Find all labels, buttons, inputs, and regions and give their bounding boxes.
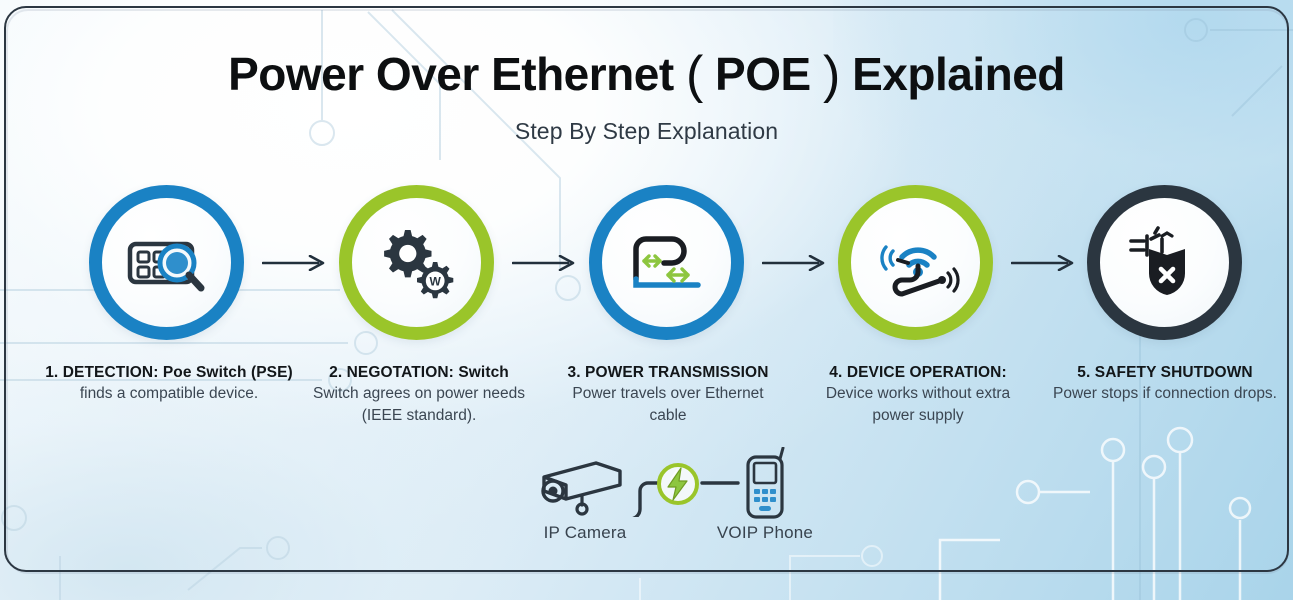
voip-phone-icon: [736, 447, 794, 521]
step-4-circle: [838, 185, 993, 340]
wireless-access-point-icon: [872, 225, 960, 301]
step-2-caption-line-2: Switch agrees on power needs: [303, 383, 535, 404]
arrow-right-icon-2: [512, 255, 578, 271]
step-3-caption-line-3: cable: [548, 405, 788, 426]
voip-phone-label: VOIP Phone: [680, 523, 850, 543]
step-4-caption-line-3: power supply: [800, 405, 1036, 426]
ethernet-cable-transfer-icon: [624, 227, 710, 299]
step-5-caption: 5. SAFETY SHUTDOWN Power stops if connec…: [1040, 362, 1290, 405]
title-acronym: POE: [715, 48, 811, 100]
device-example-row: IP Camera VOIP Phone: [0, 443, 1293, 553]
step-4-caption-line-2: Device works without extra: [800, 383, 1036, 404]
step-1-circle: [89, 185, 244, 340]
step-circle-row: W: [0, 185, 1293, 345]
step-3-caption-line-2: Power travels over Ethernet: [548, 383, 788, 404]
step-3-heading: 3. POWER TRANSMISSION: [567, 364, 768, 381]
step-4-caption: 4. DEVICE OPERATION: Device works withou…: [800, 362, 1036, 426]
page-title: Power Over Ethernet ( POE ) Explained: [0, 48, 1293, 102]
title-main: Power Over Ethernet: [228, 48, 674, 100]
title-paren-open: (: [686, 46, 703, 104]
step-caption-row: 1. DETECTION: Poe Switch (PSE) finds a c…: [0, 362, 1293, 442]
step-5-circle: [1087, 185, 1242, 340]
step-1-caption-line-2: finds a compatible device.: [28, 383, 310, 404]
gears-watt-icon: W: [375, 224, 459, 302]
step-5-caption-line-1: 5. SAFETY SHUTDOWN: [1040, 362, 1290, 383]
step-2-caption-line-1: 2. NEGOTATION: Switch: [303, 362, 535, 383]
header: Power Over Ethernet ( POE ) Explained St…: [0, 48, 1293, 145]
step-1-caption: 1. DETECTION: Poe Switch (PSE) finds a c…: [28, 362, 310, 405]
step-2-caption: 2. NEGOTATION: Switch Switch agrees on p…: [303, 362, 535, 426]
step-2-heading: 2. NEGOTATION: Switch: [329, 364, 509, 381]
step-4-heading: 4. DEVICE OPERATION:: [829, 364, 1006, 381]
step-4-caption-line-1: 4. DEVICE OPERATION:: [800, 362, 1036, 383]
ip-camera-label: IP Camera: [500, 523, 670, 543]
step-1-caption-line-1: 1. DETECTION: Poe Switch (PSE): [28, 362, 310, 383]
svg-text:W: W: [429, 274, 441, 288]
step-2-caption-line-3: (IEEE standard).: [303, 405, 535, 426]
step-5-heading: 5. SAFETY SHUTDOWN: [1077, 364, 1252, 381]
step-1-heading: 1. DETECTION: Poe Switch (PSE): [45, 364, 293, 381]
step-3-circle: [589, 185, 744, 340]
step-3-caption: 3. POWER TRANSMISSION Power travels over…: [548, 362, 788, 426]
step-2-circle: W: [339, 185, 494, 340]
infographic-canvas: Power Over Ethernet ( POE ) Explained St…: [0, 0, 1293, 600]
step-5-caption-line-2: Power stops if connection drops.: [1040, 383, 1290, 404]
arrow-right-icon-3: [762, 255, 828, 271]
arrow-right-icon-1: [262, 255, 328, 271]
title-suffix: Explained: [852, 48, 1065, 100]
switch-magnifier-icon: [125, 226, 209, 300]
arrow-right-icon-4: [1011, 255, 1077, 271]
step-3-caption-line-1: 3. POWER TRANSMISSION: [548, 362, 788, 383]
title-paren-close: ): [823, 46, 840, 104]
unplugged-shield-x-icon: [1125, 225, 1205, 301]
lightning-bolt-icon: [655, 461, 701, 507]
page-subtitle: Step By Step Explanation: [0, 118, 1293, 145]
